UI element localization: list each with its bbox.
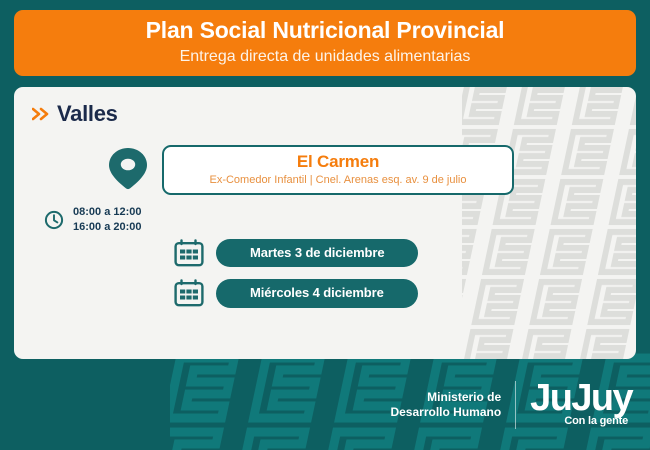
date-pill: Martes 3 de diciembre bbox=[216, 239, 418, 267]
location-address: Ex-Comedor Infantil | Cnel. Arenas esq. … bbox=[172, 174, 504, 187]
content-card: Valles El Carmen Ex-Comedor Infantil | C… bbox=[14, 87, 636, 359]
hours-line-1: 08:00 a 12:00 bbox=[73, 205, 142, 220]
calendar-icon bbox=[174, 279, 204, 307]
clock-icon bbox=[44, 210, 64, 230]
region-name: Valles bbox=[57, 103, 118, 125]
calendar-icon bbox=[174, 239, 204, 267]
region-heading: Valles bbox=[32, 103, 118, 125]
jujuy-logo: JuJuy Con la gente bbox=[530, 382, 632, 427]
page-subtitle: Entrega directa de unidades alimentarias bbox=[180, 47, 471, 66]
hours-block: 08:00 a 12:00 16:00 a 20:00 bbox=[44, 205, 142, 235]
location-name: El Carmen bbox=[172, 152, 504, 172]
map-pin-icon bbox=[102, 142, 154, 194]
date-list: Martes 3 de diciembre Miércoles 4 diciem… bbox=[174, 239, 418, 308]
poster-root: Plan Social Nutricional Provincial Entre… bbox=[0, 0, 650, 450]
footer-divider bbox=[515, 381, 516, 429]
ministry-line-2: Desarrollo Humano bbox=[390, 405, 501, 420]
page-title: Plan Social Nutricional Provincial bbox=[146, 18, 505, 43]
date-row: Martes 3 de diciembre bbox=[174, 239, 418, 267]
date-pill: Miércoles 4 diciembre bbox=[216, 279, 418, 307]
date-row: Miércoles 4 diciembre bbox=[174, 279, 418, 307]
ministry-line-1: Ministerio de bbox=[390, 390, 501, 405]
logo-tagline: Con la gente bbox=[564, 416, 628, 427]
footer: Ministerio de Desarrollo Humano JuJuy Co… bbox=[0, 359, 650, 450]
location-card: El Carmen Ex-Comedor Infantil | Cnel. Ar… bbox=[162, 145, 514, 195]
hours-line-2: 16:00 a 20:00 bbox=[73, 220, 142, 235]
double-chevron-right-icon bbox=[32, 106, 50, 122]
logo-wordmark: JuJuy bbox=[530, 382, 632, 415]
header-banner: Plan Social Nutricional Provincial Entre… bbox=[14, 10, 636, 76]
card-greca-pattern bbox=[462, 87, 636, 359]
ministry-name: Ministerio de Desarrollo Humano bbox=[390, 390, 501, 420]
